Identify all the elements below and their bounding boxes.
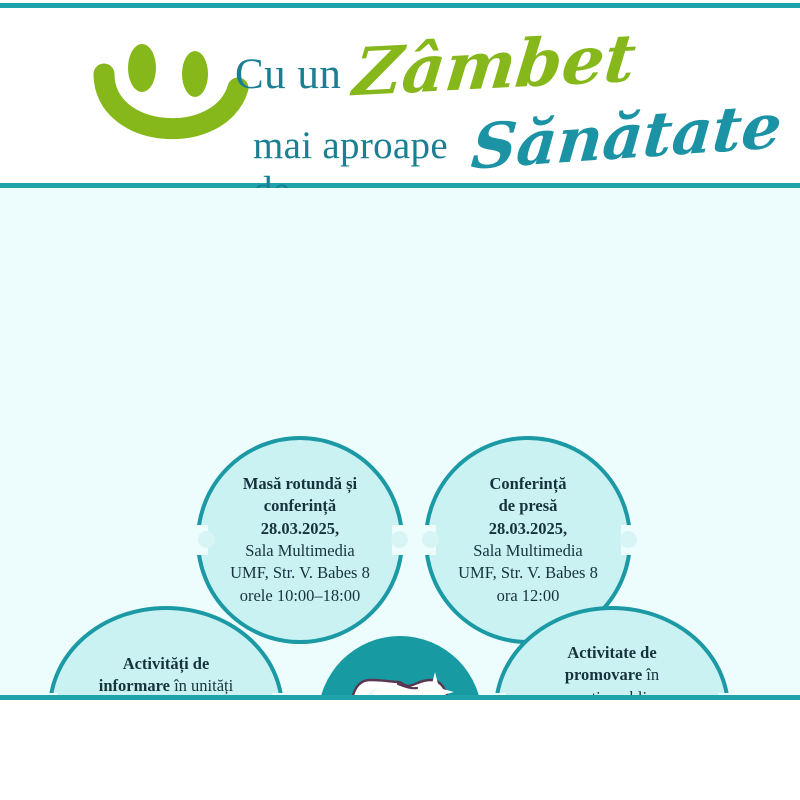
connector-dot [620, 531, 637, 548]
ring-gap-mask [492, 693, 506, 695]
connector-dot [198, 531, 215, 548]
ring-gap-mask [272, 693, 286, 695]
poster-header: Cu un Zâmbet mai aproape de Sănătate [0, 8, 800, 183]
connector-dot [391, 531, 408, 548]
headline-cu-un: Cu un [235, 50, 341, 99]
event-bubble-masa-rotunda[interactable]: Masă rotundă șiconferință28.03.2025, Sal… [196, 436, 404, 644]
ring-gap-mask [718, 693, 732, 695]
events-panel: Masă rotundă șiconferință28.03.2025, Sal… [0, 188, 800, 695]
event-details: Sala MultimediaUMF, Str. V. Babes 8ora 1… [458, 541, 598, 605]
event-title: Masă rotundă șiconferință28.03.2025, [243, 474, 357, 538]
event-title: Activitate depromovare [565, 643, 657, 684]
tooth-icon [318, 636, 482, 695]
headline-zambet: Zâmbet [351, 27, 639, 104]
smiley-face-icon [90, 30, 250, 160]
event-details: Sala MultimediaUMF, Str. V. Babes 8orele… [230, 541, 370, 605]
headline-line-1: Cu un Zâmbet [235, 34, 635, 99]
event-title: Conferințăde presă28.03.2025, [489, 474, 567, 538]
ring-gap-mask [46, 693, 58, 695]
center-tooth-badge [318, 636, 482, 695]
headline-wordart: Cu un Zâmbet mai aproape de Sănătate [235, 26, 780, 176]
event-bubble-text: Conferințăde presă28.03.2025, Sala Multi… [446, 473, 610, 608]
headline-sanatate: Sănătate [469, 97, 784, 177]
partners-footer: Parteneri ⚕ UMF UNIVERSITATEA DE MEDICIN… [0, 700, 800, 800]
connector-dot [422, 531, 439, 548]
event-bubble-text: Masă rotundă șiconferință28.03.2025, Sal… [218, 473, 382, 608]
poster-root: Cu un Zâmbet mai aproape de Sănătate Mas… [0, 0, 800, 800]
event-bubble-text: Activități deinformare în unitățide înva… [84, 653, 248, 695]
event-bubble-text: Activitate depromovare înspațiu public e… [535, 642, 689, 695]
